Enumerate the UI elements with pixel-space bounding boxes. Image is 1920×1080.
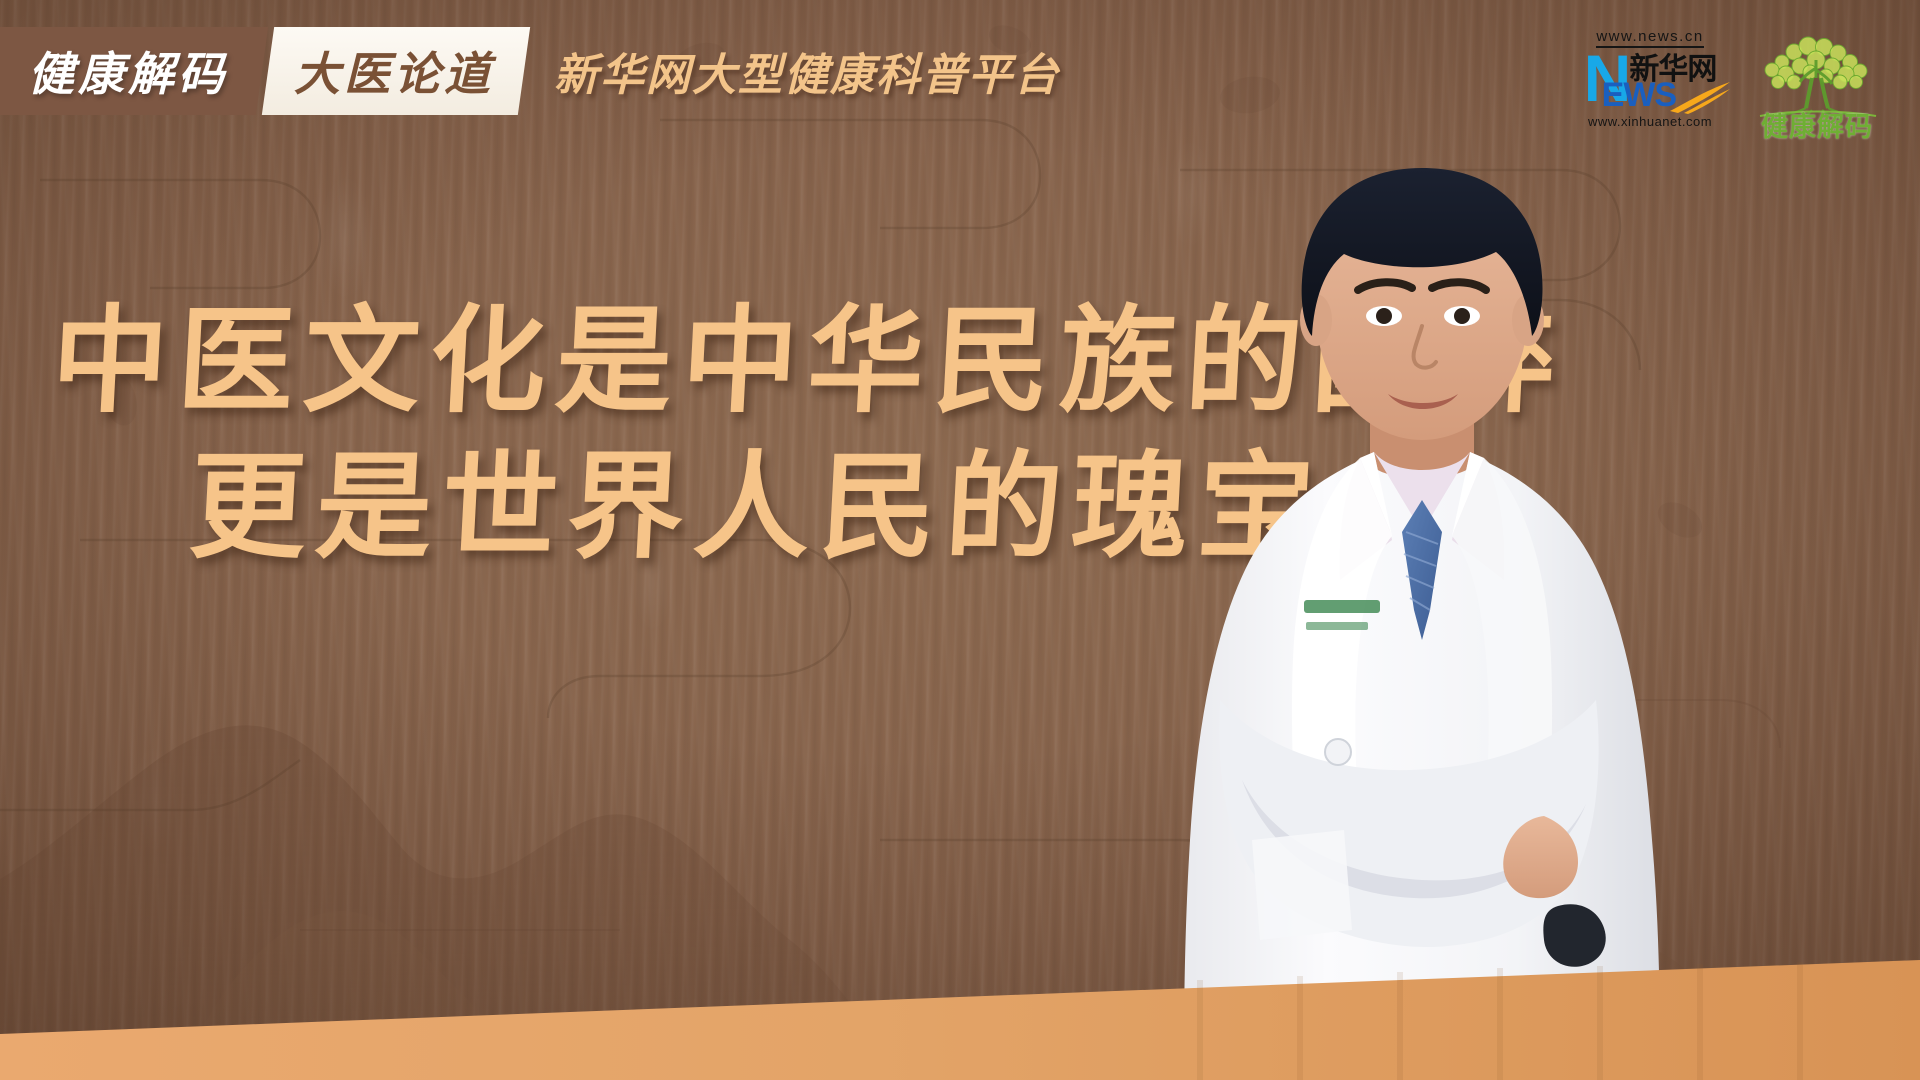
segment-tag-label: 大医论道	[294, 38, 494, 104]
headline-line-2: 更是世界人民的瑰宝	[186, 434, 1236, 580]
program-tag: 健康解码	[0, 27, 268, 115]
xinhua-swoosh-icon	[1668, 80, 1732, 114]
xinhua-logo: www.news.cn N 新华网 EWS www.xinhuanet.com	[1580, 28, 1720, 136]
doctor-coat-pocket	[1252, 830, 1352, 940]
header-tagline: 新华网大型健康科普平台	[554, 27, 1060, 115]
headline-block: 中医文化是中华民族的国粹 更是世界人民的瑰宝	[52, 288, 1232, 580]
xinhua-logo-mark: N 新华网 EWS	[1584, 50, 1717, 112]
bottom-accent-band	[0, 960, 1920, 1080]
banner-stage: 健康解码 大医论道 新华网大型健康科普平台 www.news.cn N 新华网 …	[0, 0, 1920, 1080]
program-tag-label: 健康解码	[28, 38, 228, 104]
tree-logo-caption: 健康解码	[1742, 105, 1892, 144]
xinhua-url-bottom: www.xinhuanet.com	[1588, 114, 1712, 129]
segment-tag: 大医论道	[262, 27, 530, 115]
header-banner: 健康解码 大医论道 新华网大型健康科普平台	[0, 27, 1060, 115]
headline-line-1: 中医文化是中华民族的国粹	[48, 288, 1236, 434]
xinhua-news-word: EWS	[1602, 76, 1676, 115]
doctor-coat-button	[1325, 739, 1351, 765]
doctor-portrait	[1092, 140, 1752, 1080]
health-tree-logo: 健康解码	[1742, 16, 1892, 146]
